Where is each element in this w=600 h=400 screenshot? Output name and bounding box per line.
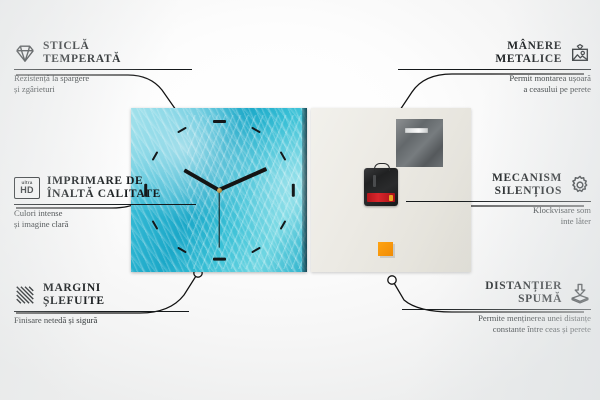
hanger-slot	[405, 128, 428, 133]
callout-print-title-2: ÎNALTĂ CALITATE	[47, 188, 161, 201]
callout-spacer-title-2: SPUMĂ	[395, 293, 562, 306]
callout-spacer: DISTANȚIER SPUMĂ Permite menținerea unei…	[395, 280, 591, 334]
callout-hangers: MÂNERE METALICE Permit montarea ușoară a…	[391, 40, 591, 94]
gear-icon	[569, 174, 591, 196]
callout-mechanism-title-1: MECANISM	[399, 172, 562, 185]
ultra-hd-badge-icon: ultra HD	[14, 177, 40, 199]
hour-marker	[213, 258, 226, 261]
callout-print-sub-1: Culori intense	[14, 208, 204, 218]
callout-edges-title-1: MARGINI	[43, 282, 105, 295]
callout-print-title-1: IMPRIMARE DE	[47, 175, 161, 188]
diagonal-hatch-icon	[14, 284, 36, 306]
callout-mechanism-rule	[406, 201, 591, 202]
hour-marker	[213, 120, 226, 123]
callout-hangers-rule	[398, 69, 591, 70]
callout-mechanism-sub-1: Klockvisare som	[399, 205, 591, 215]
callout-print-sub-2: și imagine clară	[14, 219, 204, 229]
callout-glass-rule	[14, 69, 192, 70]
mechanism-shaft	[373, 175, 376, 187]
callout-print: ultra HD IMPRIMARE DE ÎNALTĂ CALITATE Cu…	[14, 175, 204, 229]
callout-mechanism-sub-2: inte låter	[399, 216, 591, 226]
glass-right-edge	[302, 108, 307, 272]
center-cap	[217, 188, 222, 193]
callout-print-rule	[14, 204, 196, 205]
callout-spacer-rule	[402, 309, 591, 310]
callout-edges-sub-1: Finisare netedă și sigură	[14, 315, 196, 325]
metal-hanger-plate	[396, 119, 443, 167]
callout-glass: STICLĂ TEMPERATĂ Rezistență la spargere …	[14, 40, 199, 94]
second-hand	[218, 190, 219, 248]
callout-spacer-title-1: DISTANȚIER	[395, 280, 562, 293]
hanging-picture-icon	[569, 42, 591, 64]
callout-edges: MARGINI ȘLEFUITE Finisare netedă și sigu…	[14, 282, 196, 326]
callout-spacer-sub-2: constante între ceas și perete	[395, 324, 591, 334]
battery	[367, 193, 395, 202]
hour-marker	[292, 184, 295, 197]
callout-glass-sub-1: Rezistență la spargere	[14, 73, 199, 83]
clock-mechanism	[364, 168, 398, 206]
callout-hangers-sub-2: a ceasului pe perete	[391, 84, 591, 94]
callout-hangers-sub-1: Permit montarea ușoară	[391, 73, 591, 83]
press-down-arrow-icon	[569, 282, 591, 304]
foam-spacer	[378, 242, 393, 256]
callout-mechanism: MECANISM SILENȚIOS Klockvisare som inte …	[399, 172, 591, 226]
infographic-canvas: STICLĂ TEMPERATĂ Rezistență la spargere …	[0, 0, 600, 400]
callout-spacer-sub-1: Permite menținerea unei distanțe	[395, 313, 591, 323]
ultra-hd-large-text: HD	[20, 186, 33, 195]
callout-edges-title-2: ȘLEFUITE	[43, 295, 105, 308]
callout-glass-title-2: TEMPERATĂ	[43, 53, 121, 66]
callout-glass-sub-2: și zgârieturi	[14, 84, 199, 94]
callout-hangers-title-1: MÂNERE	[391, 40, 562, 53]
callout-edges-rule	[14, 311, 189, 312]
callout-hangers-title-2: METALICE	[391, 53, 562, 66]
diamond-icon	[14, 42, 36, 64]
callout-glass-title-1: STICLĂ	[43, 40, 121, 53]
mechanism-hook	[374, 163, 390, 171]
callout-mechanism-title-2: SILENȚIOS	[399, 185, 562, 198]
